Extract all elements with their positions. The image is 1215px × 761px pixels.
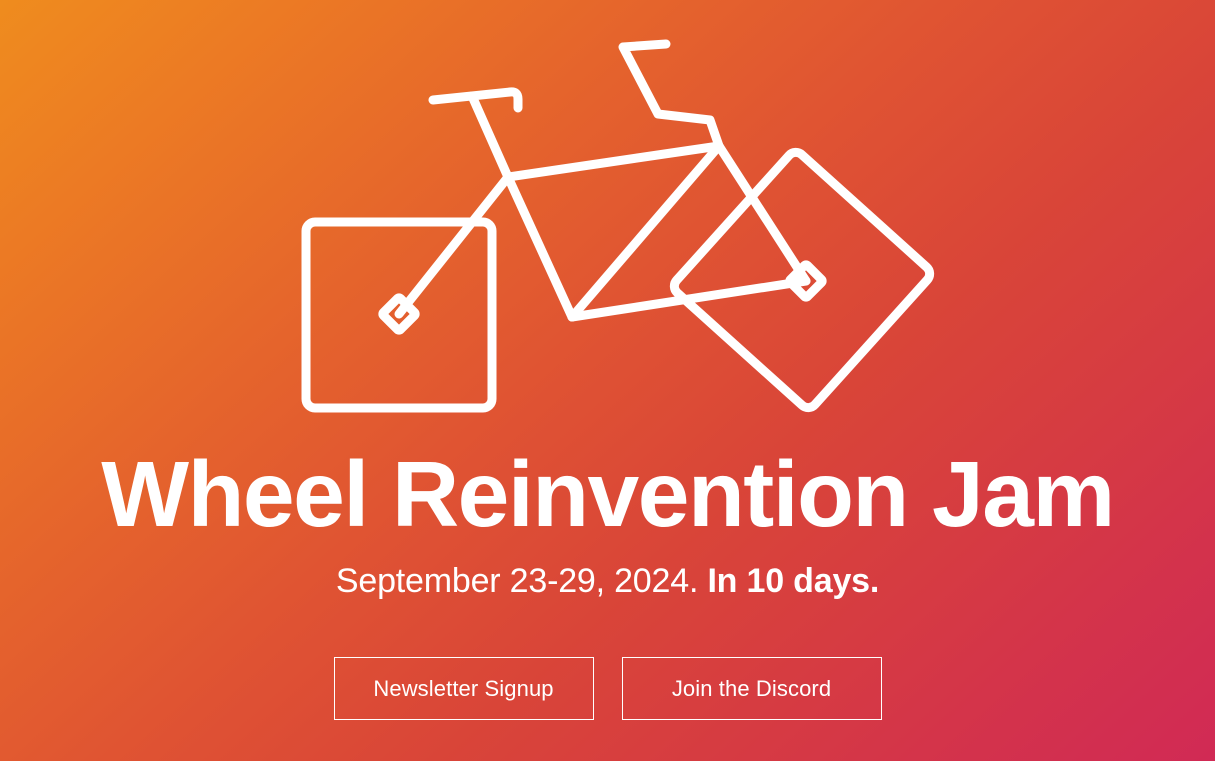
frame-steerer: [472, 96, 508, 177]
frame-seat-tube: [572, 146, 719, 317]
hero-section: Wheel Reinvention Jam September 23-29, 2…: [0, 0, 1215, 761]
rear-hub-icon: [789, 264, 823, 298]
hero-subtitle: September 23-29, 2024. In 10 days.: [0, 541, 1215, 600]
frame-chain-stay: [572, 281, 806, 317]
frame-down-tube: [508, 177, 572, 317]
frame-seat-stay: [719, 146, 806, 281]
front-square-wheel: [306, 222, 492, 408]
jam-dates: September 23-29, 2024.: [336, 562, 698, 600]
front-hub-icon: [382, 297, 416, 331]
hero-button-row: Newsletter Signup Join the Discord: [0, 657, 1215, 720]
newsletter-signup-button[interactable]: Newsletter Signup: [334, 657, 594, 720]
join-discord-button[interactable]: Join the Discord: [622, 657, 882, 720]
page-title: Wheel Reinvention Jam: [0, 448, 1215, 541]
hero-text-block: Wheel Reinvention Jam September 23-29, 2…: [0, 448, 1215, 600]
jam-countdown: In 10 days.: [707, 562, 879, 600]
rear-diamond-wheel: [670, 149, 933, 412]
frame-fork: [399, 177, 508, 314]
frame-top-tube: [508, 146, 719, 177]
handlebar-icon: [433, 92, 518, 108]
square-wheeled-bicycle-logo: [278, 24, 938, 424]
bicycle-icon: [278, 24, 938, 424]
seat-icon: [623, 44, 719, 146]
